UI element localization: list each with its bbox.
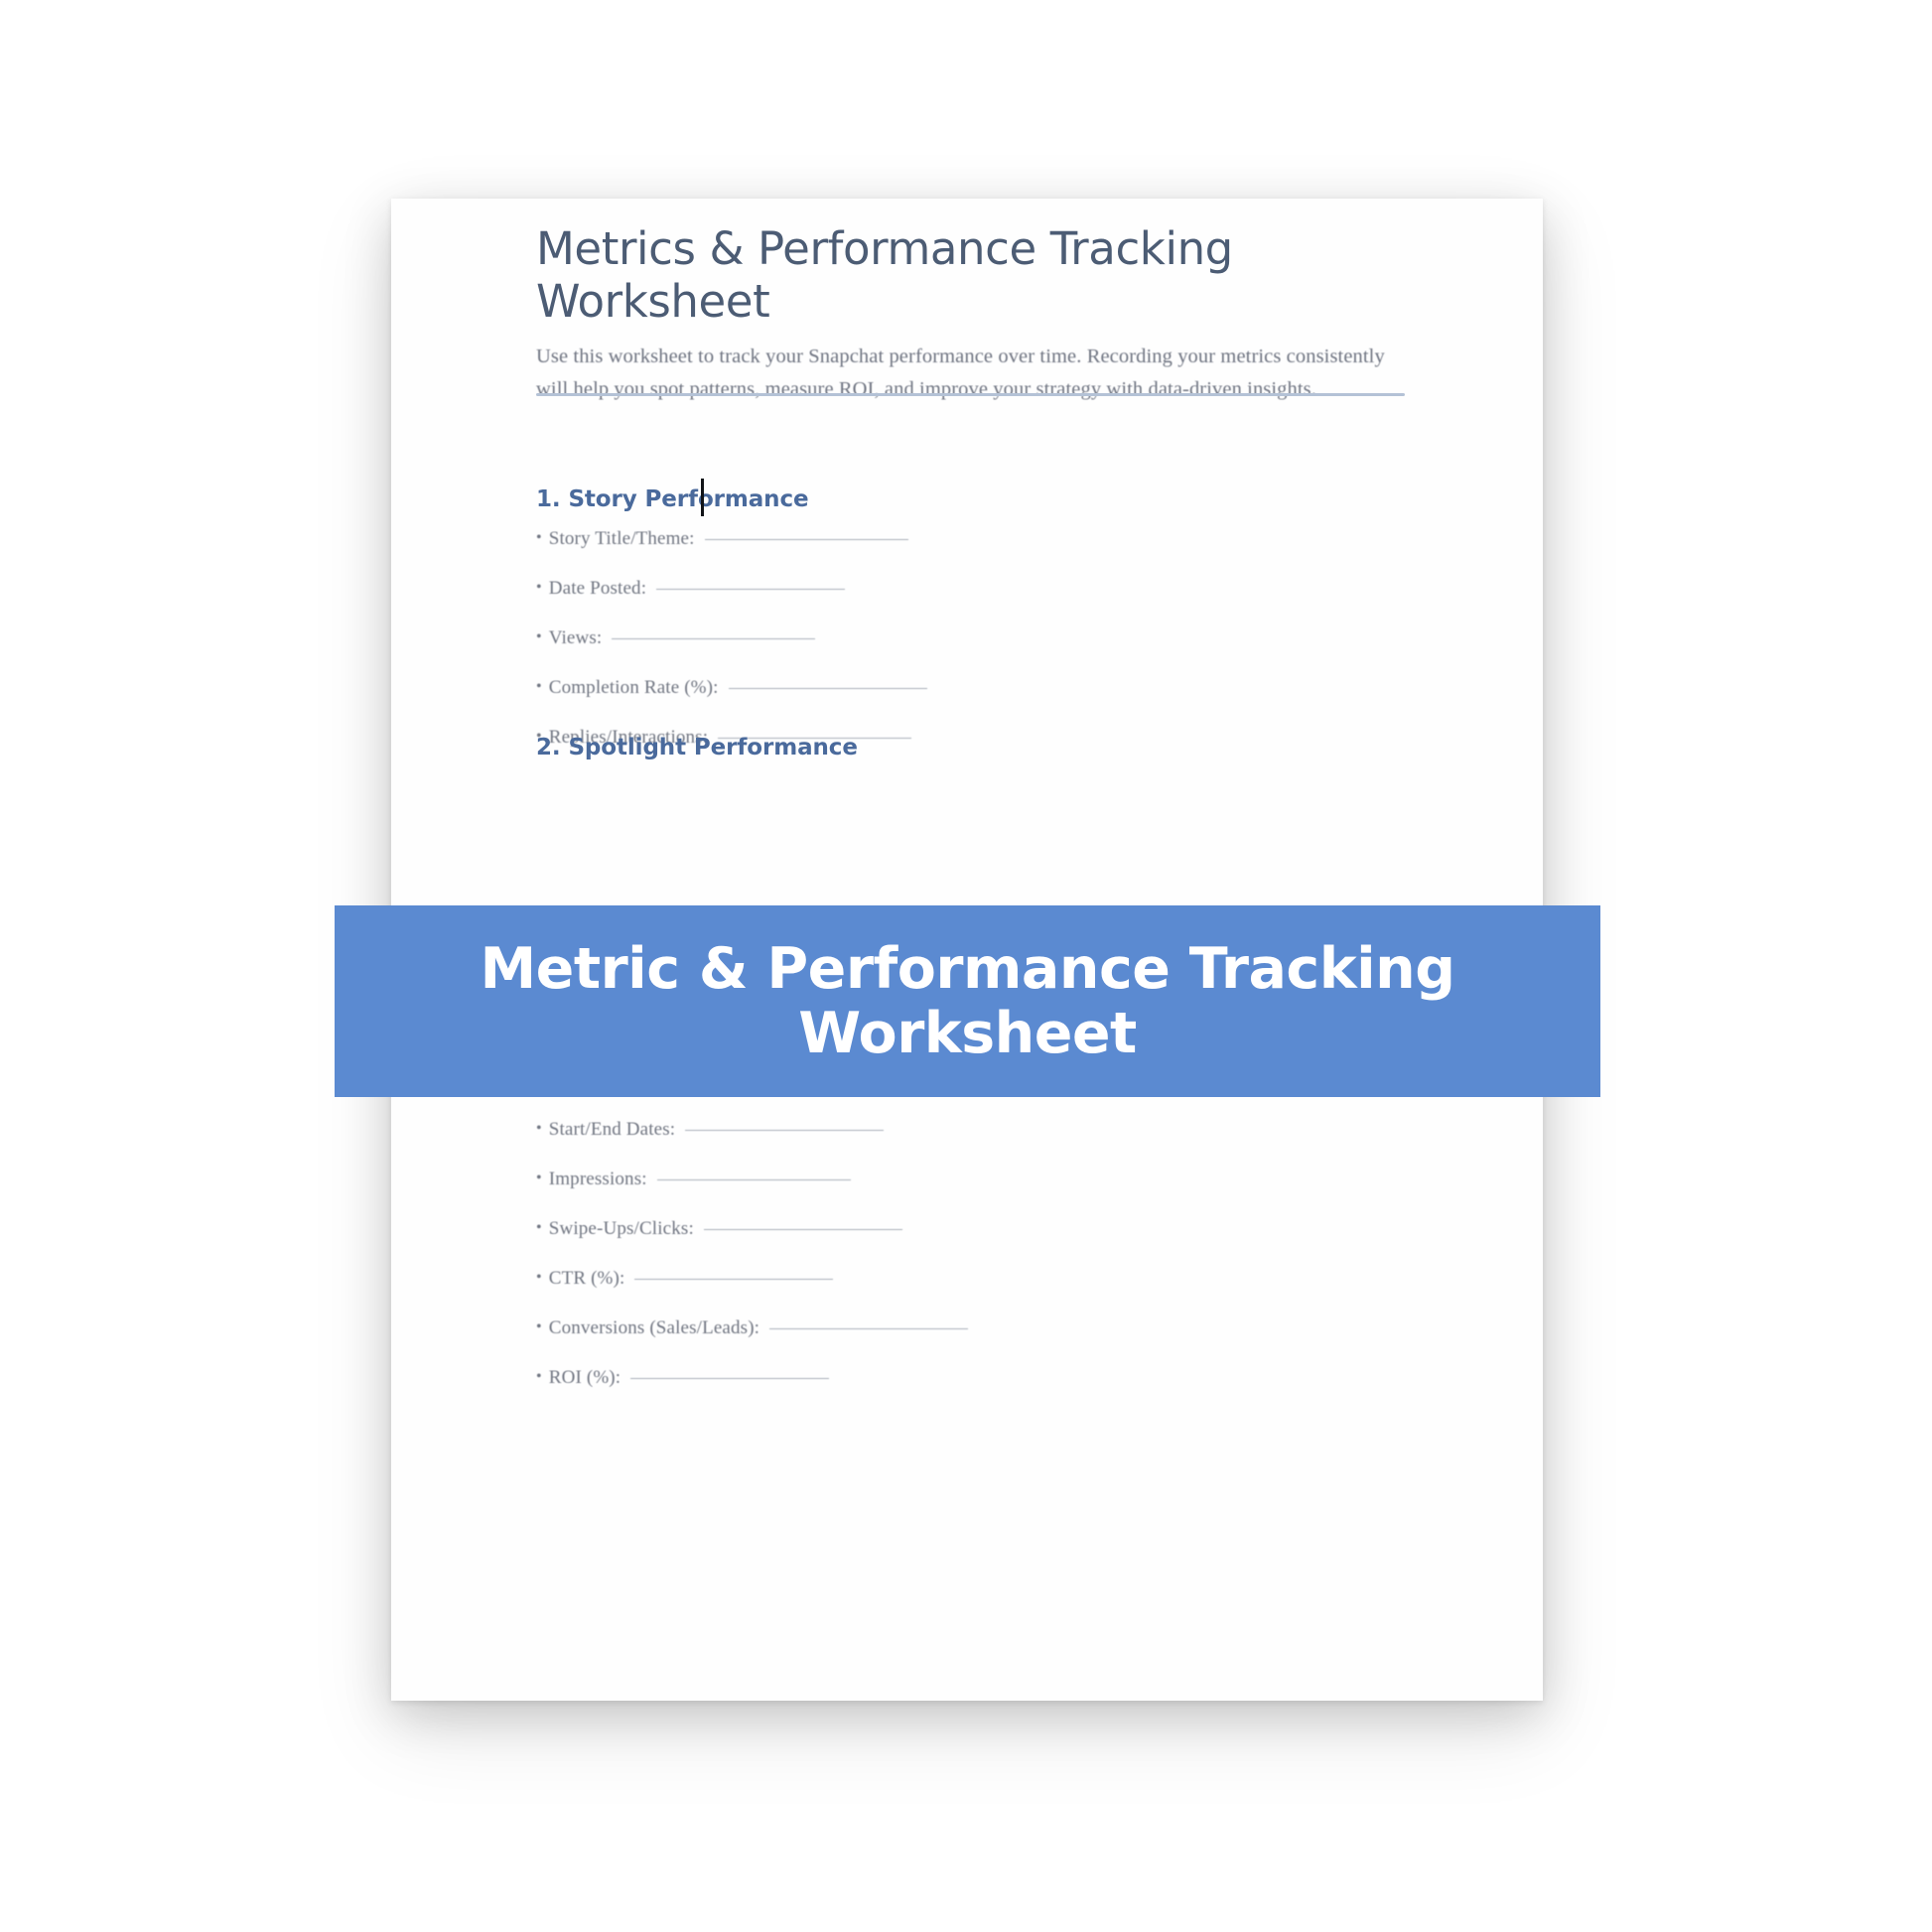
field-label: Views: <box>549 627 603 649</box>
field-blank-line[interactable] <box>612 638 815 639</box>
field-label: Swipe-Ups/Clicks: <box>549 1218 694 1240</box>
field-row[interactable]: • Start/End Dates: <box>536 1119 1479 1141</box>
field-label: ROI (%): <box>549 1367 621 1389</box>
text-cursor-caret <box>701 479 704 516</box>
field-row[interactable]: • CTR (%): <box>536 1268 1479 1290</box>
section-heading-label: 1. Story Performance <box>536 486 809 512</box>
field-row[interactable]: • Completion Rate (%): <box>536 677 1479 699</box>
section-heading: 2. Spotlight Performance <box>536 735 1479 760</box>
field-blank-line[interactable] <box>729 688 927 689</box>
field-row[interactable]: • Views: <box>536 627 1479 649</box>
title-divider <box>536 393 1405 396</box>
field-row[interactable]: • Date Posted: <box>536 578 1479 600</box>
field-blank-line[interactable] <box>704 1229 902 1230</box>
field-blank-line[interactable] <box>634 1279 833 1280</box>
bullet-icon: • <box>536 1171 542 1186</box>
field-blank-line[interactable] <box>769 1328 968 1329</box>
field-label: CTR (%): <box>549 1268 625 1290</box>
bullet-icon: • <box>536 580 542 596</box>
field-label: Completion Rate (%): <box>549 677 719 699</box>
field-row[interactable]: • Conversions (Sales/Leads): <box>536 1317 1479 1339</box>
field-label: Story Title/Theme: <box>549 528 695 550</box>
page-title: Metrics & Performance Tracking Worksheet <box>536 222 1420 328</box>
bullet-icon: • <box>536 1319 542 1335</box>
field-blank-line[interactable] <box>705 539 908 540</box>
field-row[interactable]: • Swipe-Ups/Clicks: <box>536 1218 1479 1240</box>
field-row[interactable]: • Story Title/Theme: <box>536 528 1479 550</box>
section-heading: 1. Story Performance <box>536 486 1479 512</box>
field-label: Impressions: <box>549 1169 647 1190</box>
field-label: Date Posted: <box>549 578 646 600</box>
overlay-title-text: Metric & Performance Tracking Worksheet <box>452 937 1482 1065</box>
field-row[interactable]: • ROI (%): <box>536 1367 1479 1389</box>
bullet-icon: • <box>536 1270 542 1286</box>
bullet-icon: • <box>536 679 542 695</box>
field-blank-line[interactable] <box>630 1378 829 1379</box>
field-label: Conversions (Sales/Leads): <box>549 1317 759 1339</box>
overlay-title-line-2: Worksheet <box>798 1001 1137 1066</box>
field-blank-line[interactable] <box>685 1130 884 1131</box>
overlay-title-line-1: Metric & Performance Tracking <box>480 936 1454 1002</box>
bullet-icon: • <box>536 629 542 645</box>
section-heading-label: 2. Spotlight Performance <box>536 735 858 760</box>
field-blank-line[interactable] <box>657 1179 851 1180</box>
intro-paragraph: Use this worksheet to track your Snapcha… <box>536 341 1410 406</box>
field-row[interactable]: • Impressions: <box>536 1169 1479 1190</box>
bullet-icon: • <box>536 530 542 546</box>
bullet-icon: • <box>536 1220 542 1236</box>
field-label: Start/End Dates: <box>549 1119 675 1141</box>
field-blank-line[interactable] <box>656 589 845 590</box>
bullet-icon: • <box>536 1121 542 1137</box>
overlay-title-banner: Metric & Performance Tracking Worksheet <box>335 905 1600 1097</box>
screenshot-canvas: Metrics & Performance Tracking Worksheet… <box>0 0 1932 1932</box>
section-story-performance: 1. Story Performance • Story Title/Theme… <box>536 486 1479 749</box>
bullet-icon: • <box>536 1369 542 1385</box>
